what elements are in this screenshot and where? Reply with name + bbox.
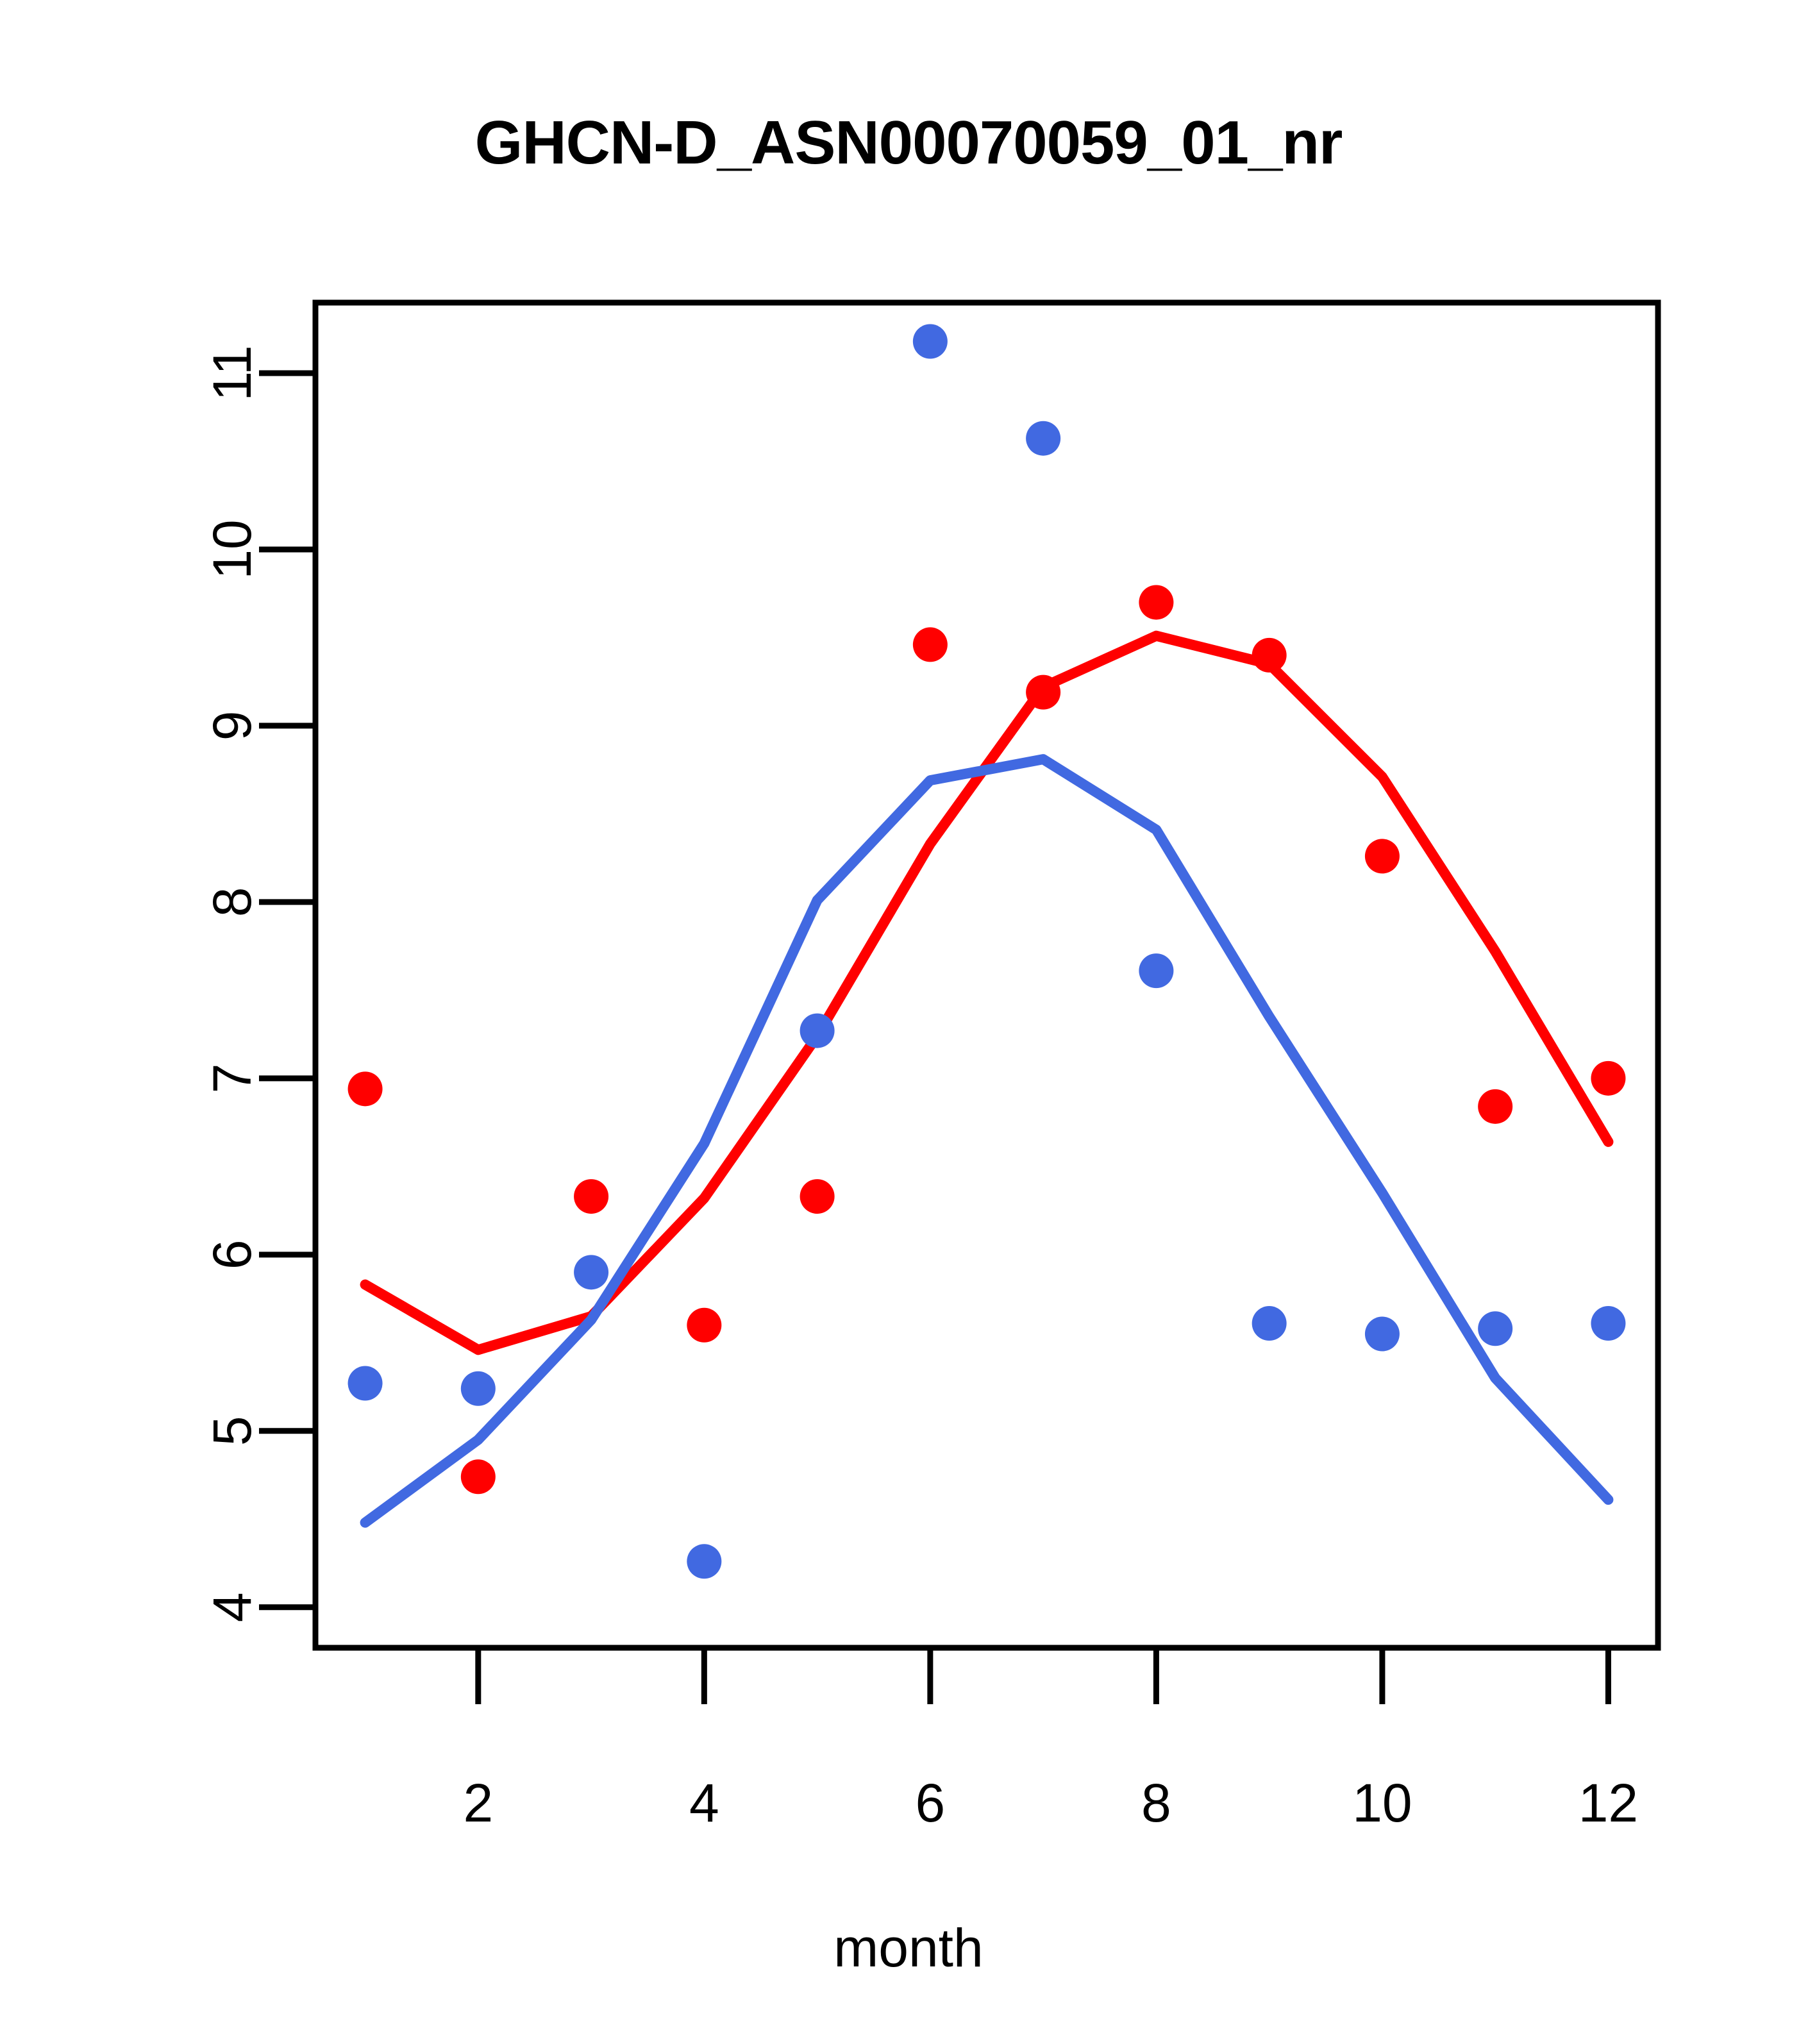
x-tick-label: 6 <box>916 1773 946 1833</box>
data-point-red-points <box>1478 1089 1512 1124</box>
data-point-blue-points <box>1252 1306 1287 1341</box>
data-point-red-points <box>1591 1061 1625 1096</box>
y-axis: 4567891011 <box>202 345 315 1622</box>
y-tick-label: 7 <box>202 1063 262 1093</box>
data-point-red-points <box>800 1179 835 1214</box>
series-line-blue-line <box>365 759 1609 1523</box>
y-tick-label: 10 <box>202 519 262 579</box>
data-point-red-points <box>687 1308 721 1343</box>
chart-page: GHCN-D_ASN00070059_01_nr 4567891011 2468… <box>0 0 1817 2044</box>
x-tick-label: 12 <box>1578 1773 1638 1833</box>
series-line-red-line <box>365 636 1609 1350</box>
data-point-red-points <box>461 1459 496 1494</box>
y-tick-label: 9 <box>202 711 262 741</box>
y-tick-label: 11 <box>202 345 262 401</box>
y-tick-label: 4 <box>202 1592 262 1622</box>
data-point-red-points <box>1365 839 1400 873</box>
data-point-red-points <box>1139 585 1173 619</box>
data-point-blue-points <box>1139 953 1173 988</box>
x-tick-label: 8 <box>1141 1773 1171 1833</box>
x-axis-label: month <box>0 1917 1817 1979</box>
scatter-plot: 4567891011 24681012 <box>0 0 1817 2044</box>
data-point-red-points <box>348 1071 383 1106</box>
data-point-red-points <box>574 1179 608 1214</box>
x-tick-label: 10 <box>1352 1773 1412 1833</box>
data-point-blue-points <box>800 1014 835 1048</box>
y-tick-label: 6 <box>202 1239 262 1269</box>
data-point-blue-points <box>348 1366 383 1401</box>
x-axis: 24681012 <box>463 1648 1638 1833</box>
data-point-red-points <box>1026 675 1060 710</box>
data-point-red-points <box>1252 638 1287 673</box>
data-series-group <box>348 324 1626 1579</box>
data-point-blue-points <box>461 1371 496 1406</box>
y-tick-label: 5 <box>202 1416 262 1446</box>
data-point-blue-points <box>1365 1317 1400 1352</box>
y-tick-label: 8 <box>202 887 262 917</box>
x-tick-label: 2 <box>463 1773 493 1833</box>
data-point-blue-points <box>1026 421 1060 456</box>
plot-frame <box>315 303 1658 1648</box>
data-point-blue-points <box>913 324 948 358</box>
data-point-red-points <box>913 627 948 662</box>
data-point-blue-points <box>687 1544 721 1579</box>
x-tick-label: 4 <box>689 1773 719 1833</box>
data-point-blue-points <box>1478 1311 1512 1346</box>
data-point-blue-points <box>574 1255 608 1289</box>
data-point-blue-points <box>1591 1306 1625 1341</box>
